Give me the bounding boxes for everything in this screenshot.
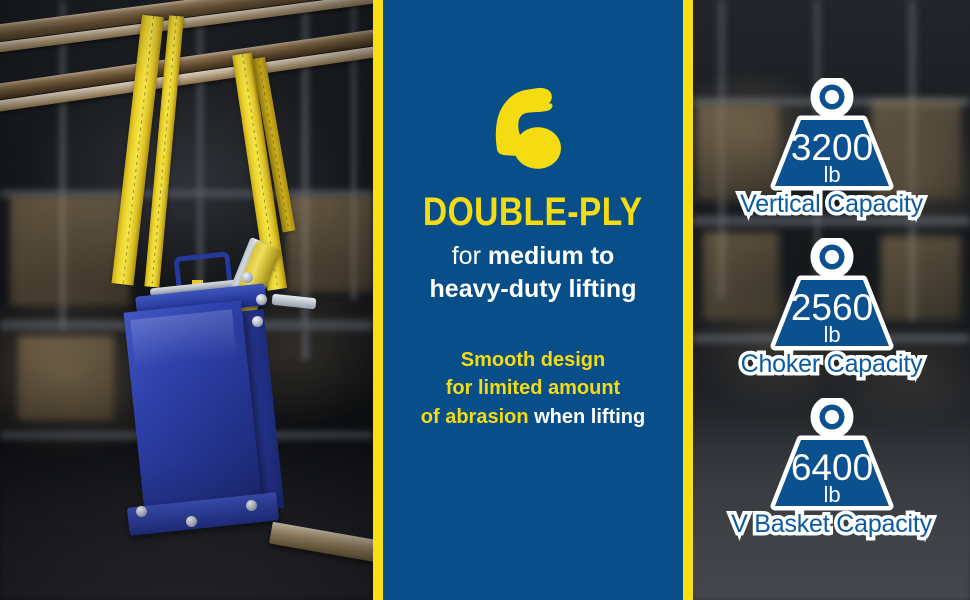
capacity-unit: lb [823, 482, 840, 507]
product-photo-panel [0, 0, 373, 600]
plate-lifting-clamp [120, 254, 335, 584]
flexed-bicep-icon [494, 86, 572, 170]
weight-hook-icon: 2560 lb [729, 238, 935, 356]
capacity-label-text: V Basket Capacity [731, 510, 932, 538]
divider-right [683, 0, 693, 600]
pallet-load [10, 196, 130, 306]
clamp-bolt [242, 272, 253, 283]
subheadline-second: heavy-duty lifting [430, 275, 637, 303]
feature-note-line1: Smooth design [461, 349, 605, 371]
capacity-panel: 3200 lb Vertical CapacityVertical Capaci… [693, 0, 970, 600]
feature-note-line2: for limited amount [446, 377, 620, 399]
capacity-badge-v-basket: 6400 lb V Basket CapacityV Basket Capaci… [693, 398, 970, 539]
clamp-bolt [256, 294, 267, 305]
capacity-label-text: Vertical Capacity [740, 190, 923, 218]
subheadline-prefix: for [452, 242, 488, 270]
capacity-badge-vertical: 3200 lb Vertical CapacityVertical Capaci… [693, 78, 970, 219]
pallet-load [18, 336, 114, 420]
capacity-label: V Basket CapacityV Basket Capacity [731, 510, 932, 539]
clamp-rod [272, 294, 317, 310]
product-infographic-banner: DOUBLE-PLY for medium to heavy-duty lift… [0, 0, 970, 600]
clamp-bolt [246, 500, 257, 511]
feature-note-line3-strong: of abrasion [421, 406, 529, 428]
capacity-label: Vertical CapacityVertical Capacity [740, 190, 923, 219]
divider-left [373, 0, 383, 600]
feature-note: Smooth design for limited amount of abra… [415, 346, 651, 431]
capacity-label-text: Choker Capacity [741, 350, 923, 378]
subheadline-strong: medium to [488, 242, 614, 270]
subheadline: for medium to heavy-duty lifting [422, 240, 645, 306]
feature-note-line3-plain: when lifting [529, 406, 646, 428]
clamp-bolt [136, 506, 147, 517]
clamp-body-plate [124, 300, 263, 516]
page-title: DOUBLE-PLY [423, 192, 643, 232]
clamp-bolt [186, 516, 197, 527]
weight-hook-icon: 3200 lb [729, 78, 935, 196]
capacity-badge-choker: 2560 lb Choker CapacityChoker Capacity [693, 238, 970, 379]
capacity-unit: lb [823, 162, 840, 187]
capacity-unit: lb [823, 322, 840, 347]
weight-hook-icon: 6400 lb [729, 398, 935, 516]
capacity-label: Choker CapacityChoker Capacity [741, 350, 923, 379]
clamp-bolt [252, 316, 263, 327]
message-panel: DOUBLE-PLY for medium to heavy-duty lift… [383, 0, 683, 600]
